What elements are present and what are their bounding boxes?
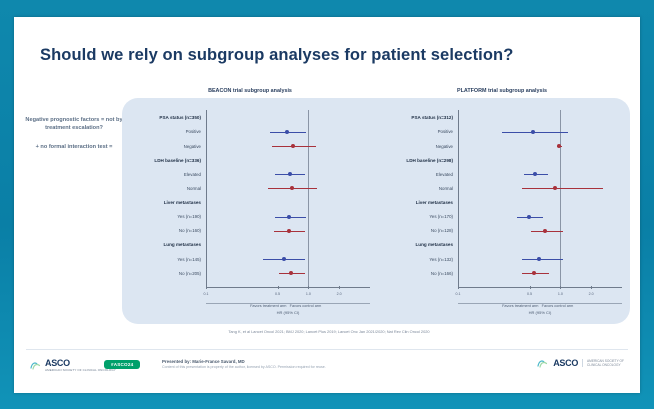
confidence-interval-right-10	[522, 259, 563, 260]
reference-line-left	[308, 110, 309, 286]
row-label-right-8: No (n=128)	[431, 228, 453, 233]
row-label-left-7: Yes (n=190)	[177, 214, 201, 219]
row-label-left-8: No (n=160)	[179, 228, 201, 233]
row-label-left-4: Elevated	[184, 172, 201, 177]
row-labels-right: PSA status (n=312)PositiveNegativeLDH ba…	[380, 110, 456, 288]
x-axis-title-left: HR (95% CI)	[206, 310, 370, 315]
point-estimate-left-1	[285, 130, 289, 134]
x-tick-label-right-2: 1.0	[558, 292, 563, 296]
row-label-left-1: Positive	[186, 129, 201, 134]
x-tick-left-1	[278, 286, 279, 289]
forest-plot-right: PSA status (n=312)PositiveNegativeLDH ba…	[380, 110, 624, 308]
favors-bar-right	[458, 303, 622, 304]
annotation-block: Negative prognostic factors = not by tre…	[20, 117, 128, 152]
page-title: Should we rely on subgroup analyses for …	[40, 46, 620, 65]
row-label-right-1: Positive	[438, 129, 453, 134]
x-axis-title-right: HR (95% CI)	[458, 310, 622, 315]
point-estimate-right-5	[553, 186, 557, 190]
asco-tagline-line-2: CLINICAL ONCOLOGY	[587, 363, 624, 367]
row-label-left-2: Negative	[184, 144, 201, 149]
point-estimate-left-2	[291, 144, 295, 148]
group-label-left-0: PSA status (n=350)	[159, 115, 201, 120]
slide-canvas: Should we rely on subgroup analyses for …	[14, 17, 640, 393]
x-axis-right	[458, 287, 622, 288]
group-label-right-3: LDH baseline (n=298)	[406, 158, 453, 163]
point-estimate-right-4	[533, 172, 537, 176]
x-tick-label-left-0: 0.1	[204, 292, 209, 296]
x-tick-right-0	[458, 286, 459, 289]
x-tick-left-3	[339, 286, 340, 289]
forest-plot-left: PSA status (n=350)PositiveNegativeLDH ba…	[128, 110, 372, 308]
annotation-line-2: + no formal interaction test =	[20, 144, 128, 152]
asco-wordmark-right: ASCO	[553, 358, 578, 368]
row-label-right-7: Yes (n=170)	[429, 214, 453, 219]
confidence-interval-right-8	[531, 231, 563, 232]
row-label-left-11: No (n=205)	[179, 271, 201, 276]
row-label-right-10: Yes (n=132)	[429, 257, 453, 262]
point-estimate-left-5	[290, 186, 294, 190]
row-label-right-4: Elevated	[436, 172, 453, 177]
annotation-line-1: Negative prognostic factors = not by tre…	[20, 117, 128, 132]
favors-right-label-right: Favors control arm	[542, 304, 574, 308]
group-label-right-0: PSA status (n=312)	[411, 115, 453, 120]
x-tick-label-left-1: 0.5	[275, 292, 280, 296]
x-tick-label-right-1: 0.5	[527, 292, 532, 296]
x-tick-label-right-0: 0.1	[456, 292, 461, 296]
y-axis-right	[458, 110, 459, 286]
footnote: Tang K, et al Lancet Oncol 2021; BMJ 202…	[164, 329, 494, 334]
x-tick-right-2	[560, 286, 561, 289]
x-tick-label-left-3: 2.0	[337, 292, 342, 296]
asco-mark-icon	[30, 361, 42, 370]
asco-tagline-right: AMERICAN SOCIETY OF CLINICAL ONCOLOGY	[582, 359, 624, 368]
point-estimate-right-1	[531, 130, 535, 134]
footer-divider	[26, 349, 628, 350]
point-estimate-right-10	[537, 257, 541, 261]
group-label-left-6: Liver metastases	[164, 200, 201, 205]
point-estimate-right-11	[532, 271, 536, 275]
plot-area-left: 0.10.51.02.0Favors treatment armFavors c…	[206, 110, 370, 288]
point-estimate-left-7	[287, 215, 291, 219]
presenter-info: Presented by: Marie-France Savard, MD Co…	[162, 359, 326, 370]
x-tick-label-right-3: 2.0	[589, 292, 594, 296]
group-label-left-3: LDH baseline (n=336)	[154, 158, 201, 163]
plot-area-right: 0.10.51.02.0Favors treatment armFavors c…	[458, 110, 622, 288]
point-estimate-right-8	[543, 229, 547, 233]
row-label-left-10: Yes (n=145)	[177, 257, 201, 262]
confidence-interval-right-5	[522, 188, 603, 189]
point-estimate-left-10	[282, 257, 286, 261]
x-axis-left	[206, 287, 370, 288]
point-estimate-left-4	[288, 172, 292, 176]
point-estimate-left-8	[287, 229, 291, 233]
group-label-left-9: Lung metastases	[163, 242, 201, 247]
slide-frame: Should we rely on subgroup analyses for …	[0, 0, 654, 409]
asco-logo-right: ASCO AMERICAN SOCIETY OF CLINICAL ONCOLO…	[537, 358, 624, 368]
y-axis-left	[206, 110, 207, 286]
x-tick-left-2	[308, 286, 309, 289]
row-label-right-2: Negative	[436, 144, 453, 149]
x-tick-left-0	[206, 286, 207, 289]
row-label-left-5: Normal	[187, 186, 201, 191]
group-label-right-6: Liver metastases	[416, 200, 453, 205]
chart-title-right: PLATFORM trial subgroup analysis	[380, 88, 624, 94]
x-tick-label-left-2: 1.0	[306, 292, 311, 296]
presenter-permission: Content of this presentation is property…	[162, 365, 326, 370]
favors-left-label-right: Favors treatment arm	[502, 304, 538, 308]
row-label-right-5: Normal	[439, 186, 453, 191]
charts-panel: BEACON trial subgroup analysisPSA status…	[122, 98, 630, 324]
favors-bar-left	[206, 303, 370, 304]
slide-footer: ASCO AMERICAN SOCIETY OF CLINICAL ONCOLO…	[14, 349, 640, 393]
x-tick-right-1	[530, 286, 531, 289]
favors-left-label-left: Favors treatment arm	[250, 304, 286, 308]
asco-logo-left: ASCO AMERICAN SOCIETY OF CLINICAL ONCOLO…	[30, 358, 116, 372]
chart-title-left: BEACON trial subgroup analysis	[128, 88, 372, 94]
row-label-right-11: No (n=166)	[431, 271, 453, 276]
x-tick-right-3	[591, 286, 592, 289]
point-estimate-left-11	[289, 271, 293, 275]
conference-hashtag-badge: #ASCO24	[104, 360, 140, 369]
row-labels-left: PSA status (n=350)PositiveNegativeLDH ba…	[128, 110, 204, 288]
asco-mark-icon-right	[537, 359, 549, 368]
favors-right-label-left: Favors control arm	[290, 304, 322, 308]
group-label-right-9: Lung metastases	[415, 242, 453, 247]
point-estimate-right-7	[527, 215, 531, 219]
